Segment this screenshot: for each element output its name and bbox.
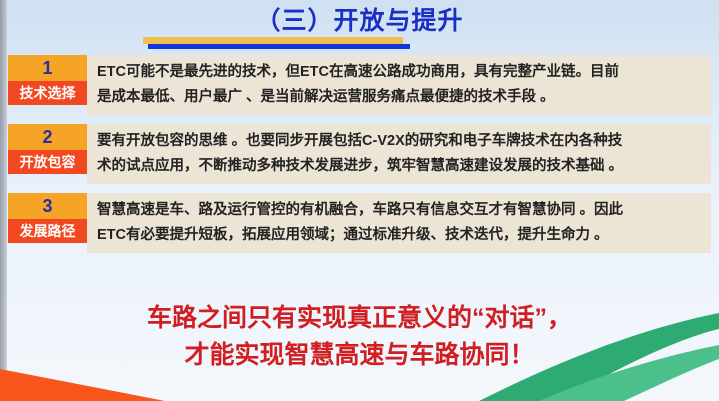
title-underline-gold bbox=[143, 37, 403, 44]
panel-line: 是成本最低、用户最广 、是当前解决运营服务痛点最便捷的技术手段 。 bbox=[97, 85, 703, 110]
content-row: 1 技术选择 ETC可能不是最先进的技术，但ETC在高速公路成功商用，具有完整产… bbox=[8, 55, 711, 115]
title-underline-blue bbox=[148, 44, 410, 49]
text-panel-2: 要有开放包容的思维 。也要同步开展包括C-V2X的研究和电子车牌技术在内各种技 … bbox=[87, 124, 711, 184]
text-panel-3: 智慧高速是车、路及运行管控的有机融合，车路只有信息交互才有智慧协同 。因此 ET… bbox=[87, 193, 711, 253]
slide-canvas: （三）开放与提升 1 技术选择 ETC可能不是最先进的技术，但ETC在高速公路成… bbox=[0, 0, 719, 401]
panel-line: 要有开放包容的思维 。也要同步开展包括C-V2X的研究和电子车牌技术在内各种技 bbox=[97, 129, 703, 154]
conclusion-text: 车路之间只有实现真正意义的“对话”， 才能实现智慧高速与车路协同！ bbox=[0, 300, 719, 374]
panel-line: ETC有必要提升短板，拓展应用领域；通过标准升级、技术迭代，提升生命力 。 bbox=[97, 223, 703, 248]
badge-1: 1 技术选择 bbox=[8, 55, 87, 115]
badge-number: 2 bbox=[8, 124, 87, 150]
badge-number: 1 bbox=[8, 55, 87, 81]
conclusion-line-2: 才能实现智慧高速与车路协同！ bbox=[0, 337, 719, 374]
content-row: 3 发展路径 智慧高速是车、路及运行管控的有机融合，车路只有信息交互才有智慧协同… bbox=[8, 193, 711, 253]
badge-number: 3 bbox=[8, 193, 87, 219]
panel-line: 智慧高速是车、路及运行管控的有机融合，车路只有信息交互才有智慧协同 。因此 bbox=[97, 198, 703, 223]
badge-label: 开放包容 bbox=[8, 150, 87, 174]
badge-label: 发展路径 bbox=[8, 219, 87, 243]
content-rows: 1 技术选择 ETC可能不是最先进的技术，但ETC在高速公路成功商用，具有完整产… bbox=[8, 55, 711, 262]
badge-3: 3 发展路径 bbox=[8, 193, 87, 253]
page-title-area: （三）开放与提升 bbox=[0, 6, 719, 36]
text-panel-1: ETC可能不是最先进的技术，但ETC在高速公路成功商用，具有完整产业链。目前 是… bbox=[87, 55, 711, 115]
panel-line: 术的试点应用，不断推动多种技术发展进步，筑牢智慧高速建设发展的技术基础 。 bbox=[97, 154, 703, 179]
content-row: 2 开放包容 要有开放包容的思维 。也要同步开展包括C-V2X的研究和电子车牌技… bbox=[8, 124, 711, 184]
page-title: （三）开放与提升 bbox=[251, 6, 467, 36]
panel-line: ETC可能不是最先进的技术，但ETC在高速公路成功商用，具有完整产业链。目前 bbox=[97, 60, 703, 85]
badge-label: 技术选择 bbox=[8, 81, 87, 105]
conclusion-line-1: 车路之间只有实现真正意义的“对话”， bbox=[0, 300, 719, 337]
badge-2: 2 开放包容 bbox=[8, 124, 87, 184]
